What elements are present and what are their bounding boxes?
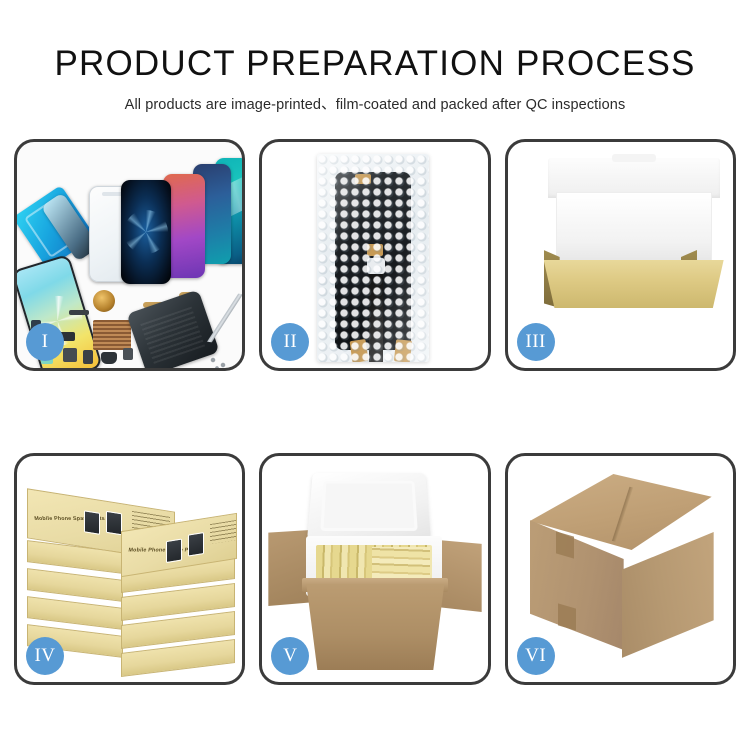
- box-speclines-2: [210, 520, 236, 544]
- tweezers-tool: [200, 289, 243, 347]
- chip-grid-part: [93, 320, 131, 350]
- screws-group: [209, 356, 231, 368]
- header: PRODUCT PREPARATION PROCESS All products…: [0, 0, 750, 114]
- panel-step-1[interactable]: I: [14, 139, 245, 371]
- foam-sheet: [556, 192, 712, 264]
- box-side-l2: [27, 568, 123, 602]
- product-preparation-process-page: PRODUCT PREPARATION PROCESS All products…: [0, 0, 750, 750]
- panel-step-5[interactable]: V: [259, 453, 490, 685]
- panel-step-6[interactable]: VI: [505, 453, 736, 685]
- carton-tape-lower: [558, 603, 576, 630]
- carton-body: [306, 584, 444, 670]
- step-badge-3: III: [517, 323, 555, 361]
- carton-side-face: [622, 532, 714, 658]
- bubble-wrap-package: [317, 154, 429, 362]
- box-window-2b: [188, 532, 204, 557]
- box-front-panel: [544, 260, 724, 308]
- step-badge-6: VI: [517, 637, 555, 675]
- plastic-sheen: [317, 154, 429, 362]
- phone-black-screen: [121, 180, 171, 284]
- box-window-1b: [106, 511, 122, 536]
- small-part-b: [63, 348, 77, 362]
- box-side-l3: [27, 596, 123, 630]
- box-window-2a: [166, 539, 182, 564]
- camera-module-part: [101, 352, 117, 364]
- small-part-d: [123, 348, 133, 360]
- speaker-part: [69, 310, 89, 315]
- panel-step-2[interactable]: II: [259, 139, 490, 371]
- small-part-c: [83, 350, 93, 364]
- step-badge-1: I: [26, 323, 64, 361]
- copper-coil-part: [93, 290, 115, 312]
- page-title: PRODUCT PREPARATION PROCESS: [0, 44, 750, 84]
- panel-step-4[interactable]: Mobile Phone Spare Parts Mobile Phone Sp…: [14, 453, 245, 685]
- panel-step-3[interactable]: III: [505, 139, 736, 371]
- step-badge-4: IV: [26, 637, 64, 675]
- process-panel-grid: I II: [14, 139, 736, 739]
- box-window-1a: [84, 510, 100, 535]
- page-subtitle: All products are image-printed、film-coat…: [0, 93, 750, 114]
- foam-lid: [307, 473, 431, 540]
